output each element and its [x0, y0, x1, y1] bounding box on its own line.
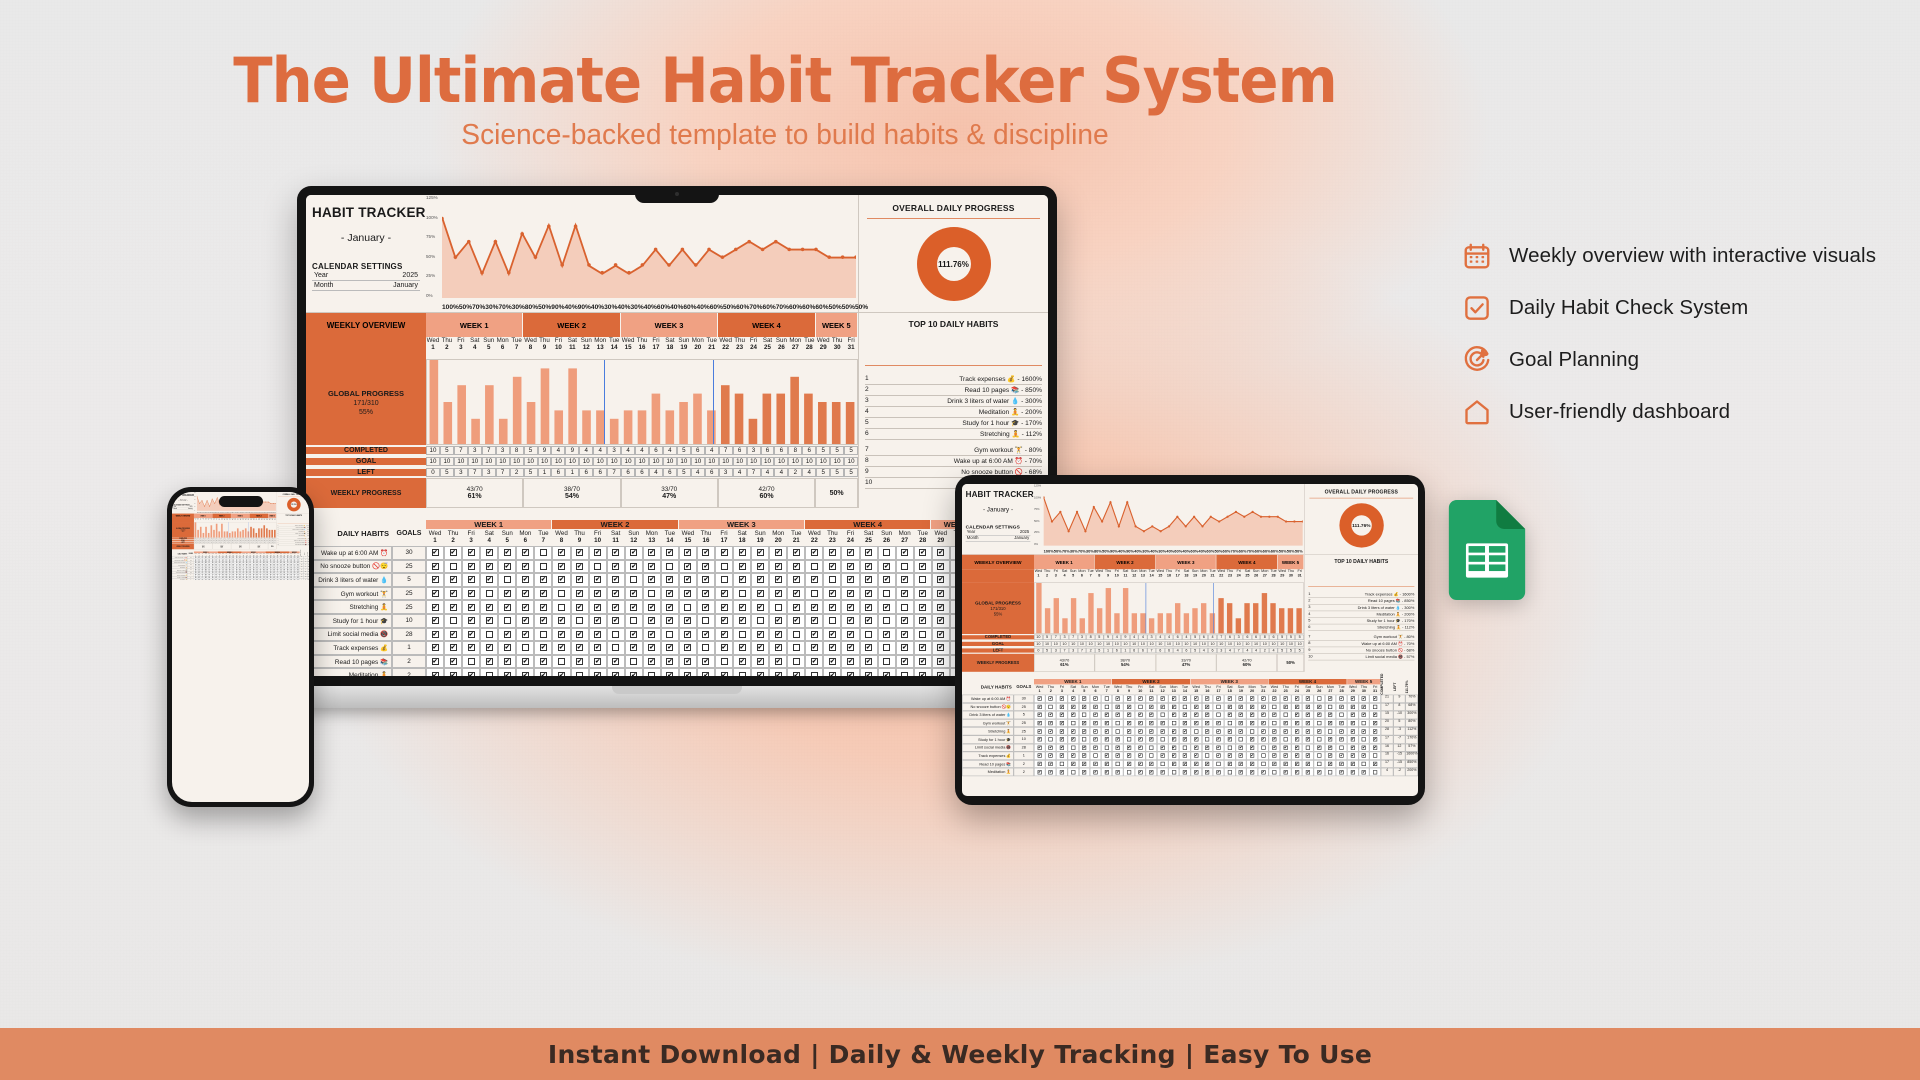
- stat-cell[interactable]: 10: [482, 457, 496, 466]
- habit-checkbox[interactable]: [769, 628, 787, 642]
- habit-checkbox[interactable]: [1336, 719, 1347, 727]
- habit-checkbox[interactable]: [715, 641, 733, 655]
- habit-checkbox[interactable]: [1135, 744, 1146, 752]
- stat-cell[interactable]: 3: [454, 468, 468, 477]
- stat-cell[interactable]: 10: [733, 457, 747, 466]
- habit-checkbox[interactable]: [1157, 719, 1168, 727]
- habit-checkbox[interactable]: [1336, 752, 1347, 760]
- habit-checkbox[interactable]: [841, 573, 859, 587]
- habit-checkbox[interactable]: [1191, 760, 1202, 768]
- habit-checkbox[interactable]: [1045, 735, 1056, 743]
- habit-checkbox[interactable]: [571, 641, 589, 655]
- habit-checkbox[interactable]: [1079, 711, 1090, 719]
- habit-checkbox[interactable]: [1325, 703, 1336, 711]
- habit-checkbox[interactable]: [607, 641, 625, 655]
- habit-checkbox[interactable]: [1168, 711, 1179, 719]
- habit-checkbox[interactable]: [1358, 760, 1369, 768]
- habit-checkbox[interactable]: [1224, 703, 1235, 711]
- habit-checkbox[interactable]: [1269, 711, 1280, 719]
- habit-checkbox[interactable]: [426, 641, 444, 655]
- stat-cell[interactable]: 7: [1234, 648, 1243, 653]
- habit-checkbox[interactable]: [1056, 695, 1067, 703]
- stat-cell[interactable]: 10: [1287, 641, 1296, 646]
- habit-checkbox[interactable]: [498, 628, 516, 642]
- habit-checkbox[interactable]: [1213, 695, 1224, 703]
- habit-checkbox[interactable]: [625, 587, 643, 601]
- stat-cell[interactable]: 10: [1252, 641, 1261, 646]
- habit-checkbox[interactable]: [625, 546, 643, 560]
- habit-checkbox[interactable]: [1179, 768, 1190, 776]
- habit-checkbox[interactable]: [805, 573, 823, 587]
- habit-checkbox[interactable]: [1235, 711, 1246, 719]
- stat-cell[interactable]: 4: [593, 446, 607, 455]
- habit-checkbox[interactable]: [841, 641, 859, 655]
- stat-cell[interactable]: 10: [1208, 641, 1217, 646]
- habit-checkbox[interactable]: [733, 641, 751, 655]
- habit-checkbox[interactable]: [1213, 744, 1224, 752]
- habit-checkbox[interactable]: [769, 573, 787, 587]
- habit-checkbox[interactable]: [896, 560, 914, 574]
- stat-cell[interactable]: 10: [551, 457, 565, 466]
- habit-checkbox[interactable]: [733, 600, 751, 614]
- habit-checkbox[interactable]: [1168, 735, 1179, 743]
- stat-cell[interactable]: 4: [1130, 635, 1139, 640]
- habit-checkbox[interactable]: [1258, 760, 1269, 768]
- habit-checkbox[interactable]: [860, 560, 878, 574]
- habit-checkbox[interactable]: [625, 641, 643, 655]
- habit-checkbox[interactable]: [625, 628, 643, 642]
- habit-checkbox[interactable]: [625, 573, 643, 587]
- habit-checkbox[interactable]: [607, 655, 625, 669]
- habit-checkbox[interactable]: [516, 560, 534, 574]
- habit-checkbox[interactable]: [1123, 727, 1134, 735]
- stat-cell[interactable]: 6: [663, 468, 677, 477]
- habit-checkbox[interactable]: [1358, 735, 1369, 743]
- habit-checkbox[interactable]: [643, 587, 661, 601]
- stat-cell[interactable]: 10: [1269, 641, 1278, 646]
- habit-checkbox[interactable]: [1157, 760, 1168, 768]
- habit-checkbox[interactable]: [1302, 752, 1313, 760]
- habit-checkbox[interactable]: [1258, 768, 1269, 776]
- stat-cell[interactable]: 10: [607, 457, 621, 466]
- habit-checkbox[interactable]: [914, 614, 932, 628]
- habit-checkbox[interactable]: [1157, 768, 1168, 776]
- habit-checkbox[interactable]: [769, 587, 787, 601]
- stat-cell[interactable]: 5: [524, 446, 538, 455]
- habit-checkbox[interactable]: [498, 600, 516, 614]
- habit-checkbox[interactable]: [1235, 768, 1246, 776]
- habit-checkbox[interactable]: [1370, 768, 1381, 776]
- habit-checkbox[interactable]: [516, 600, 534, 614]
- habit-goal[interactable]: 25: [1014, 703, 1034, 711]
- habit-checkbox[interactable]: [1269, 727, 1280, 735]
- stat-cell[interactable]: 0: [1034, 648, 1043, 653]
- habit-checkbox[interactable]: [1347, 719, 1358, 727]
- habit-checkbox[interactable]: [733, 573, 751, 587]
- stat-cell[interactable]: 10: [1086, 641, 1095, 646]
- habit-checkbox[interactable]: [1291, 744, 1302, 752]
- habit-checkbox[interactable]: [1247, 768, 1258, 776]
- stat-cell[interactable]: 5: [1043, 635, 1052, 640]
- habit-checkbox[interactable]: [643, 655, 661, 669]
- stat-cell[interactable]: 10: [761, 457, 775, 466]
- habit-checkbox[interactable]: [1179, 695, 1190, 703]
- habit-checkbox[interactable]: [697, 641, 715, 655]
- habit-checkbox[interactable]: [480, 587, 498, 601]
- habit-checkbox[interactable]: [697, 587, 715, 601]
- habit-checkbox[interactable]: [1101, 752, 1112, 760]
- stat-cell[interactable]: 3: [719, 468, 733, 477]
- habit-checkbox[interactable]: [1325, 744, 1336, 752]
- habit-checkbox[interactable]: [1280, 744, 1291, 752]
- habit-checkbox[interactable]: [1191, 727, 1202, 735]
- habit-checkbox[interactable]: [462, 600, 480, 614]
- habit-checkbox[interactable]: [1314, 752, 1325, 760]
- habit-checkbox[interactable]: [1056, 760, 1067, 768]
- habit-checkbox[interactable]: [1258, 744, 1269, 752]
- habit-checkbox[interactable]: [1213, 752, 1224, 760]
- habit-checkbox[interactable]: [571, 600, 589, 614]
- habit-checkbox[interactable]: [1302, 744, 1313, 752]
- habit-checkbox[interactable]: [1168, 695, 1179, 703]
- habit-checkbox[interactable]: [444, 573, 462, 587]
- stat-cell[interactable]: 6: [1139, 648, 1148, 653]
- habit-checkbox[interactable]: [426, 655, 444, 669]
- habit-checkbox[interactable]: [823, 587, 841, 601]
- stat-cell[interactable]: 1: [538, 468, 552, 477]
- habit-checkbox[interactable]: [1168, 727, 1179, 735]
- habit-checkbox[interactable]: [1224, 768, 1235, 776]
- habit-checkbox[interactable]: [480, 641, 498, 655]
- habit-checkbox[interactable]: [1123, 695, 1134, 703]
- habit-checkbox[interactable]: [571, 628, 589, 642]
- habit-checkbox[interactable]: [1347, 760, 1358, 768]
- habit-checkbox[interactable]: [697, 655, 715, 669]
- stat-cell[interactable]: 10: [1051, 641, 1060, 646]
- stat-cell[interactable]: 7: [454, 446, 468, 455]
- stat-cell[interactable]: 10: [635, 457, 649, 466]
- habit-checkbox[interactable]: [462, 587, 480, 601]
- stat-cell[interactable]: 10: [524, 457, 538, 466]
- habit-checkbox[interactable]: [480, 668, 498, 676]
- stat-cell[interactable]: 10: [1260, 641, 1269, 646]
- habit-checkbox[interactable]: [1258, 695, 1269, 703]
- habit-checkbox[interactable]: [607, 668, 625, 676]
- habit-checkbox[interactable]: [823, 668, 841, 676]
- habit-checkbox[interactable]: [932, 600, 950, 614]
- habit-checkbox[interactable]: [860, 641, 878, 655]
- habit-checkbox[interactable]: [932, 546, 950, 560]
- habit-checkbox[interactable]: [1068, 768, 1079, 776]
- habit-checkbox[interactable]: [1090, 744, 1101, 752]
- habit-checkbox[interactable]: [625, 600, 643, 614]
- habit-checkbox[interactable]: [1325, 711, 1336, 719]
- habit-checkbox[interactable]: [1224, 752, 1235, 760]
- habit-goal[interactable]: 2: [392, 655, 426, 669]
- habit-checkbox[interactable]: [1034, 752, 1045, 760]
- habit-checkbox[interactable]: [1168, 719, 1179, 727]
- habit-checkbox[interactable]: [1202, 752, 1213, 760]
- stat-cell[interactable]: 10: [788, 457, 802, 466]
- habit-checkbox[interactable]: [1146, 711, 1157, 719]
- habit-checkbox[interactable]: [1302, 711, 1313, 719]
- habit-checkbox[interactable]: [1347, 727, 1358, 735]
- habit-checkbox[interactable]: [1101, 695, 1112, 703]
- stat-cell[interactable]: 6: [551, 468, 565, 477]
- habit-checkbox[interactable]: [589, 587, 607, 601]
- habit-checkbox[interactable]: [787, 587, 805, 601]
- habit-checkbox[interactable]: [1235, 752, 1246, 760]
- habit-checkbox[interactable]: [1146, 744, 1157, 752]
- habit-checkbox[interactable]: [571, 668, 589, 676]
- habit-checkbox[interactable]: [444, 560, 462, 574]
- habit-checkbox[interactable]: [860, 587, 878, 601]
- habit-checkbox[interactable]: [1247, 727, 1258, 735]
- stat-cell[interactable]: 10: [440, 457, 454, 466]
- habit-checkbox[interactable]: [787, 628, 805, 642]
- habit-checkbox[interactable]: [1302, 735, 1313, 743]
- habit-checkbox[interactable]: [1336, 744, 1347, 752]
- habit-checkbox[interactable]: [679, 560, 697, 574]
- habit-checkbox[interactable]: [1336, 695, 1347, 703]
- habit-goal[interactable]: 5: [392, 573, 426, 587]
- stat-cell[interactable]: 7: [482, 446, 496, 455]
- stat-cell[interactable]: 4: [1199, 648, 1208, 653]
- habit-checkbox[interactable]: [697, 600, 715, 614]
- habit-checkbox[interactable]: [1247, 760, 1258, 768]
- habit-checkbox[interactable]: [426, 573, 444, 587]
- habit-checkbox[interactable]: [805, 587, 823, 601]
- habit-checkbox[interactable]: [1101, 703, 1112, 711]
- habit-checkbox[interactable]: [841, 600, 859, 614]
- habit-checkbox[interactable]: [534, 546, 552, 560]
- stat-cell[interactable]: 4: [1112, 635, 1121, 640]
- habit-checkbox[interactable]: [1045, 744, 1056, 752]
- habit-checkbox[interactable]: [1202, 768, 1213, 776]
- habit-checkbox[interactable]: [1068, 695, 1079, 703]
- habit-checkbox[interactable]: [661, 641, 679, 655]
- habit-checkbox[interactable]: [932, 573, 950, 587]
- habit-checkbox[interactable]: [697, 614, 715, 628]
- habit-goal[interactable]: 25: [392, 560, 426, 574]
- habit-checkbox[interactable]: [661, 600, 679, 614]
- habit-checkbox[interactable]: [589, 641, 607, 655]
- habit-checkbox[interactable]: [1347, 703, 1358, 711]
- stat-cell[interactable]: 3: [468, 446, 482, 455]
- habit-checkbox[interactable]: [516, 546, 534, 560]
- habit-checkbox[interactable]: [534, 614, 552, 628]
- habit-checkbox[interactable]: [1314, 768, 1325, 776]
- habit-checkbox[interactable]: [805, 628, 823, 642]
- habit-checkbox[interactable]: [534, 655, 552, 669]
- habit-checkbox[interactable]: [1168, 703, 1179, 711]
- habit-goal[interactable]: 1: [392, 641, 426, 655]
- habit-checkbox[interactable]: [552, 641, 570, 655]
- google-sheets-icon[interactable]: [1448, 500, 1526, 600]
- habit-checkbox[interactable]: [643, 641, 661, 655]
- habit-checkbox[interactable]: [769, 641, 787, 655]
- stat-cell[interactable]: 10: [719, 457, 733, 466]
- habit-checkbox[interactable]: [661, 573, 679, 587]
- stat-cell[interactable]: 5: [1295, 648, 1304, 653]
- habit-checkbox[interactable]: [679, 587, 697, 601]
- habit-checkbox[interactable]: [896, 587, 914, 601]
- habit-checkbox[interactable]: [1247, 752, 1258, 760]
- habit-checkbox[interactable]: [607, 560, 625, 574]
- habit-checkbox[interactable]: [607, 628, 625, 642]
- habit-checkbox[interactable]: [462, 546, 480, 560]
- stat-cell[interactable]: 10: [705, 457, 719, 466]
- habit-checkbox[interactable]: [625, 655, 643, 669]
- stat-cell[interactable]: 4: [1139, 635, 1148, 640]
- habit-checkbox[interactable]: [1291, 735, 1302, 743]
- habit-checkbox[interactable]: [1370, 711, 1381, 719]
- habit-checkbox[interactable]: [1358, 711, 1369, 719]
- stat-cell[interactable]: 3: [1069, 648, 1078, 653]
- habit-checkbox[interactable]: [1179, 735, 1190, 743]
- habit-checkbox[interactable]: [516, 641, 534, 655]
- habit-checkbox[interactable]: [1045, 719, 1056, 727]
- habit-checkbox[interactable]: [751, 573, 769, 587]
- habit-checkbox[interactable]: [1191, 768, 1202, 776]
- stat-cell[interactable]: 6: [1156, 648, 1165, 653]
- habit-checkbox[interactable]: [1068, 744, 1079, 752]
- habit-checkbox[interactable]: [769, 655, 787, 669]
- stat-cell[interactable]: 4: [1243, 648, 1252, 653]
- stat-cell[interactable]: 9: [565, 446, 579, 455]
- habit-checkbox[interactable]: [1034, 727, 1045, 735]
- habit-checkbox[interactable]: [733, 628, 751, 642]
- habit-checkbox[interactable]: [1056, 727, 1067, 735]
- stat-cell[interactable]: 6: [1165, 648, 1174, 653]
- habit-checkbox[interactable]: [1336, 711, 1347, 719]
- habit-checkbox[interactable]: [1090, 727, 1101, 735]
- stat-cell[interactable]: 10: [1234, 641, 1243, 646]
- habit-checkbox[interactable]: [480, 628, 498, 642]
- habit-checkbox[interactable]: [498, 560, 516, 574]
- habit-checkbox[interactable]: [589, 573, 607, 587]
- habit-checkbox[interactable]: [1157, 744, 1168, 752]
- habit-checkbox[interactable]: [552, 587, 570, 601]
- stat-cell[interactable]: 5: [1191, 635, 1200, 640]
- habit-checkbox[interactable]: [1224, 727, 1235, 735]
- stat-cell[interactable]: 10: [510, 457, 524, 466]
- calendar-setting-row[interactable]: Month January: [966, 536, 1031, 542]
- habit-checkbox[interactable]: [1280, 735, 1291, 743]
- stat-cell[interactable]: 5: [830, 468, 844, 477]
- stat-cell[interactable]: 10: [1130, 641, 1139, 646]
- habit-checkbox[interactable]: [1235, 727, 1246, 735]
- habit-goal[interactable]: 5: [1014, 711, 1034, 719]
- stat-cell[interactable]: 0: [426, 468, 440, 477]
- habit-checkbox[interactable]: [733, 546, 751, 560]
- stat-cell[interactable]: 8: [1086, 635, 1095, 640]
- stat-cell[interactable]: 7: [1051, 635, 1060, 640]
- habit-checkbox[interactable]: [426, 668, 444, 676]
- habit-checkbox[interactable]: [896, 546, 914, 560]
- habit-checkbox[interactable]: [516, 628, 534, 642]
- habit-checkbox[interactable]: [1090, 752, 1101, 760]
- habit-checkbox[interactable]: [751, 600, 769, 614]
- habit-checkbox[interactable]: [1302, 719, 1313, 727]
- habit-checkbox[interactable]: [841, 628, 859, 642]
- habit-checkbox[interactable]: [841, 546, 859, 560]
- stat-cell[interactable]: 10: [663, 457, 677, 466]
- stat-cell[interactable]: 10: [1226, 641, 1235, 646]
- habit-checkbox[interactable]: [823, 573, 841, 587]
- habit-checkbox[interactable]: [805, 614, 823, 628]
- calendar-setting-row[interactable]: Year 2025: [312, 271, 420, 281]
- stat-cell[interactable]: 4: [761, 468, 775, 477]
- habit-checkbox[interactable]: [1068, 727, 1079, 735]
- habit-checkbox[interactable]: [1135, 760, 1146, 768]
- habit-checkbox[interactable]: [1034, 768, 1045, 776]
- habit-checkbox[interactable]: [1291, 719, 1302, 727]
- stat-cell[interactable]: 7: [1078, 648, 1087, 653]
- habit-checkbox[interactable]: [1213, 760, 1224, 768]
- stat-cell[interactable]: 5: [1295, 635, 1304, 640]
- habit-checkbox[interactable]: [480, 655, 498, 669]
- stat-cell[interactable]: 10: [1069, 641, 1078, 646]
- habit-checkbox[interactable]: [1202, 744, 1213, 752]
- habit-checkbox[interactable]: [643, 560, 661, 574]
- habit-checkbox[interactable]: [498, 655, 516, 669]
- stat-cell[interactable]: 5: [816, 468, 830, 477]
- stat-cell[interactable]: 4: [1269, 648, 1278, 653]
- habit-checkbox[interactable]: [1079, 695, 1090, 703]
- stat-cell[interactable]: 5: [844, 446, 858, 455]
- habit-checkbox[interactable]: [1157, 711, 1168, 719]
- habit-checkbox[interactable]: [715, 614, 733, 628]
- habit-checkbox[interactable]: [498, 668, 516, 676]
- habit-checkbox[interactable]: [1157, 695, 1168, 703]
- habit-checkbox[interactable]: [1068, 711, 1079, 719]
- habit-checkbox[interactable]: [1280, 727, 1291, 735]
- stat-cell[interactable]: 9: [1121, 635, 1130, 640]
- habit-checkbox[interactable]: [643, 668, 661, 676]
- stat-cell[interactable]: 8: [1260, 635, 1269, 640]
- stat-cell[interactable]: 6: [774, 446, 788, 455]
- habit-checkbox[interactable]: [1269, 752, 1280, 760]
- habit-checkbox[interactable]: [1258, 703, 1269, 711]
- habit-checkbox[interactable]: [679, 546, 697, 560]
- habit-checkbox[interactable]: [1347, 735, 1358, 743]
- habit-checkbox[interactable]: [1302, 768, 1313, 776]
- habit-checkbox[interactable]: [516, 655, 534, 669]
- habit-checkbox[interactable]: [878, 628, 896, 642]
- habit-checkbox[interactable]: [1325, 760, 1336, 768]
- habit-checkbox[interactable]: [498, 641, 516, 655]
- habit-checkbox[interactable]: [1112, 760, 1123, 768]
- habit-checkbox[interactable]: [1090, 719, 1101, 727]
- habit-checkbox[interactable]: [1135, 703, 1146, 711]
- habit-checkbox[interactable]: [1325, 768, 1336, 776]
- habit-checkbox[interactable]: [1146, 760, 1157, 768]
- habit-goal[interactable]: 25: [392, 587, 426, 601]
- habit-checkbox[interactable]: [860, 600, 878, 614]
- stat-cell[interactable]: 10: [496, 457, 510, 466]
- habit-checkbox[interactable]: [1258, 752, 1269, 760]
- habit-checkbox[interactable]: [751, 628, 769, 642]
- stat-cell[interactable]: 3: [747, 446, 761, 455]
- stat-cell[interactable]: 1: [1104, 648, 1113, 653]
- habit-checkbox[interactable]: [1034, 711, 1045, 719]
- habit-checkbox[interactable]: [1302, 703, 1313, 711]
- habit-checkbox[interactable]: [1269, 744, 1280, 752]
- habit-checkbox[interactable]: [878, 655, 896, 669]
- habit-checkbox[interactable]: [462, 668, 480, 676]
- habit-checkbox[interactable]: [1213, 711, 1224, 719]
